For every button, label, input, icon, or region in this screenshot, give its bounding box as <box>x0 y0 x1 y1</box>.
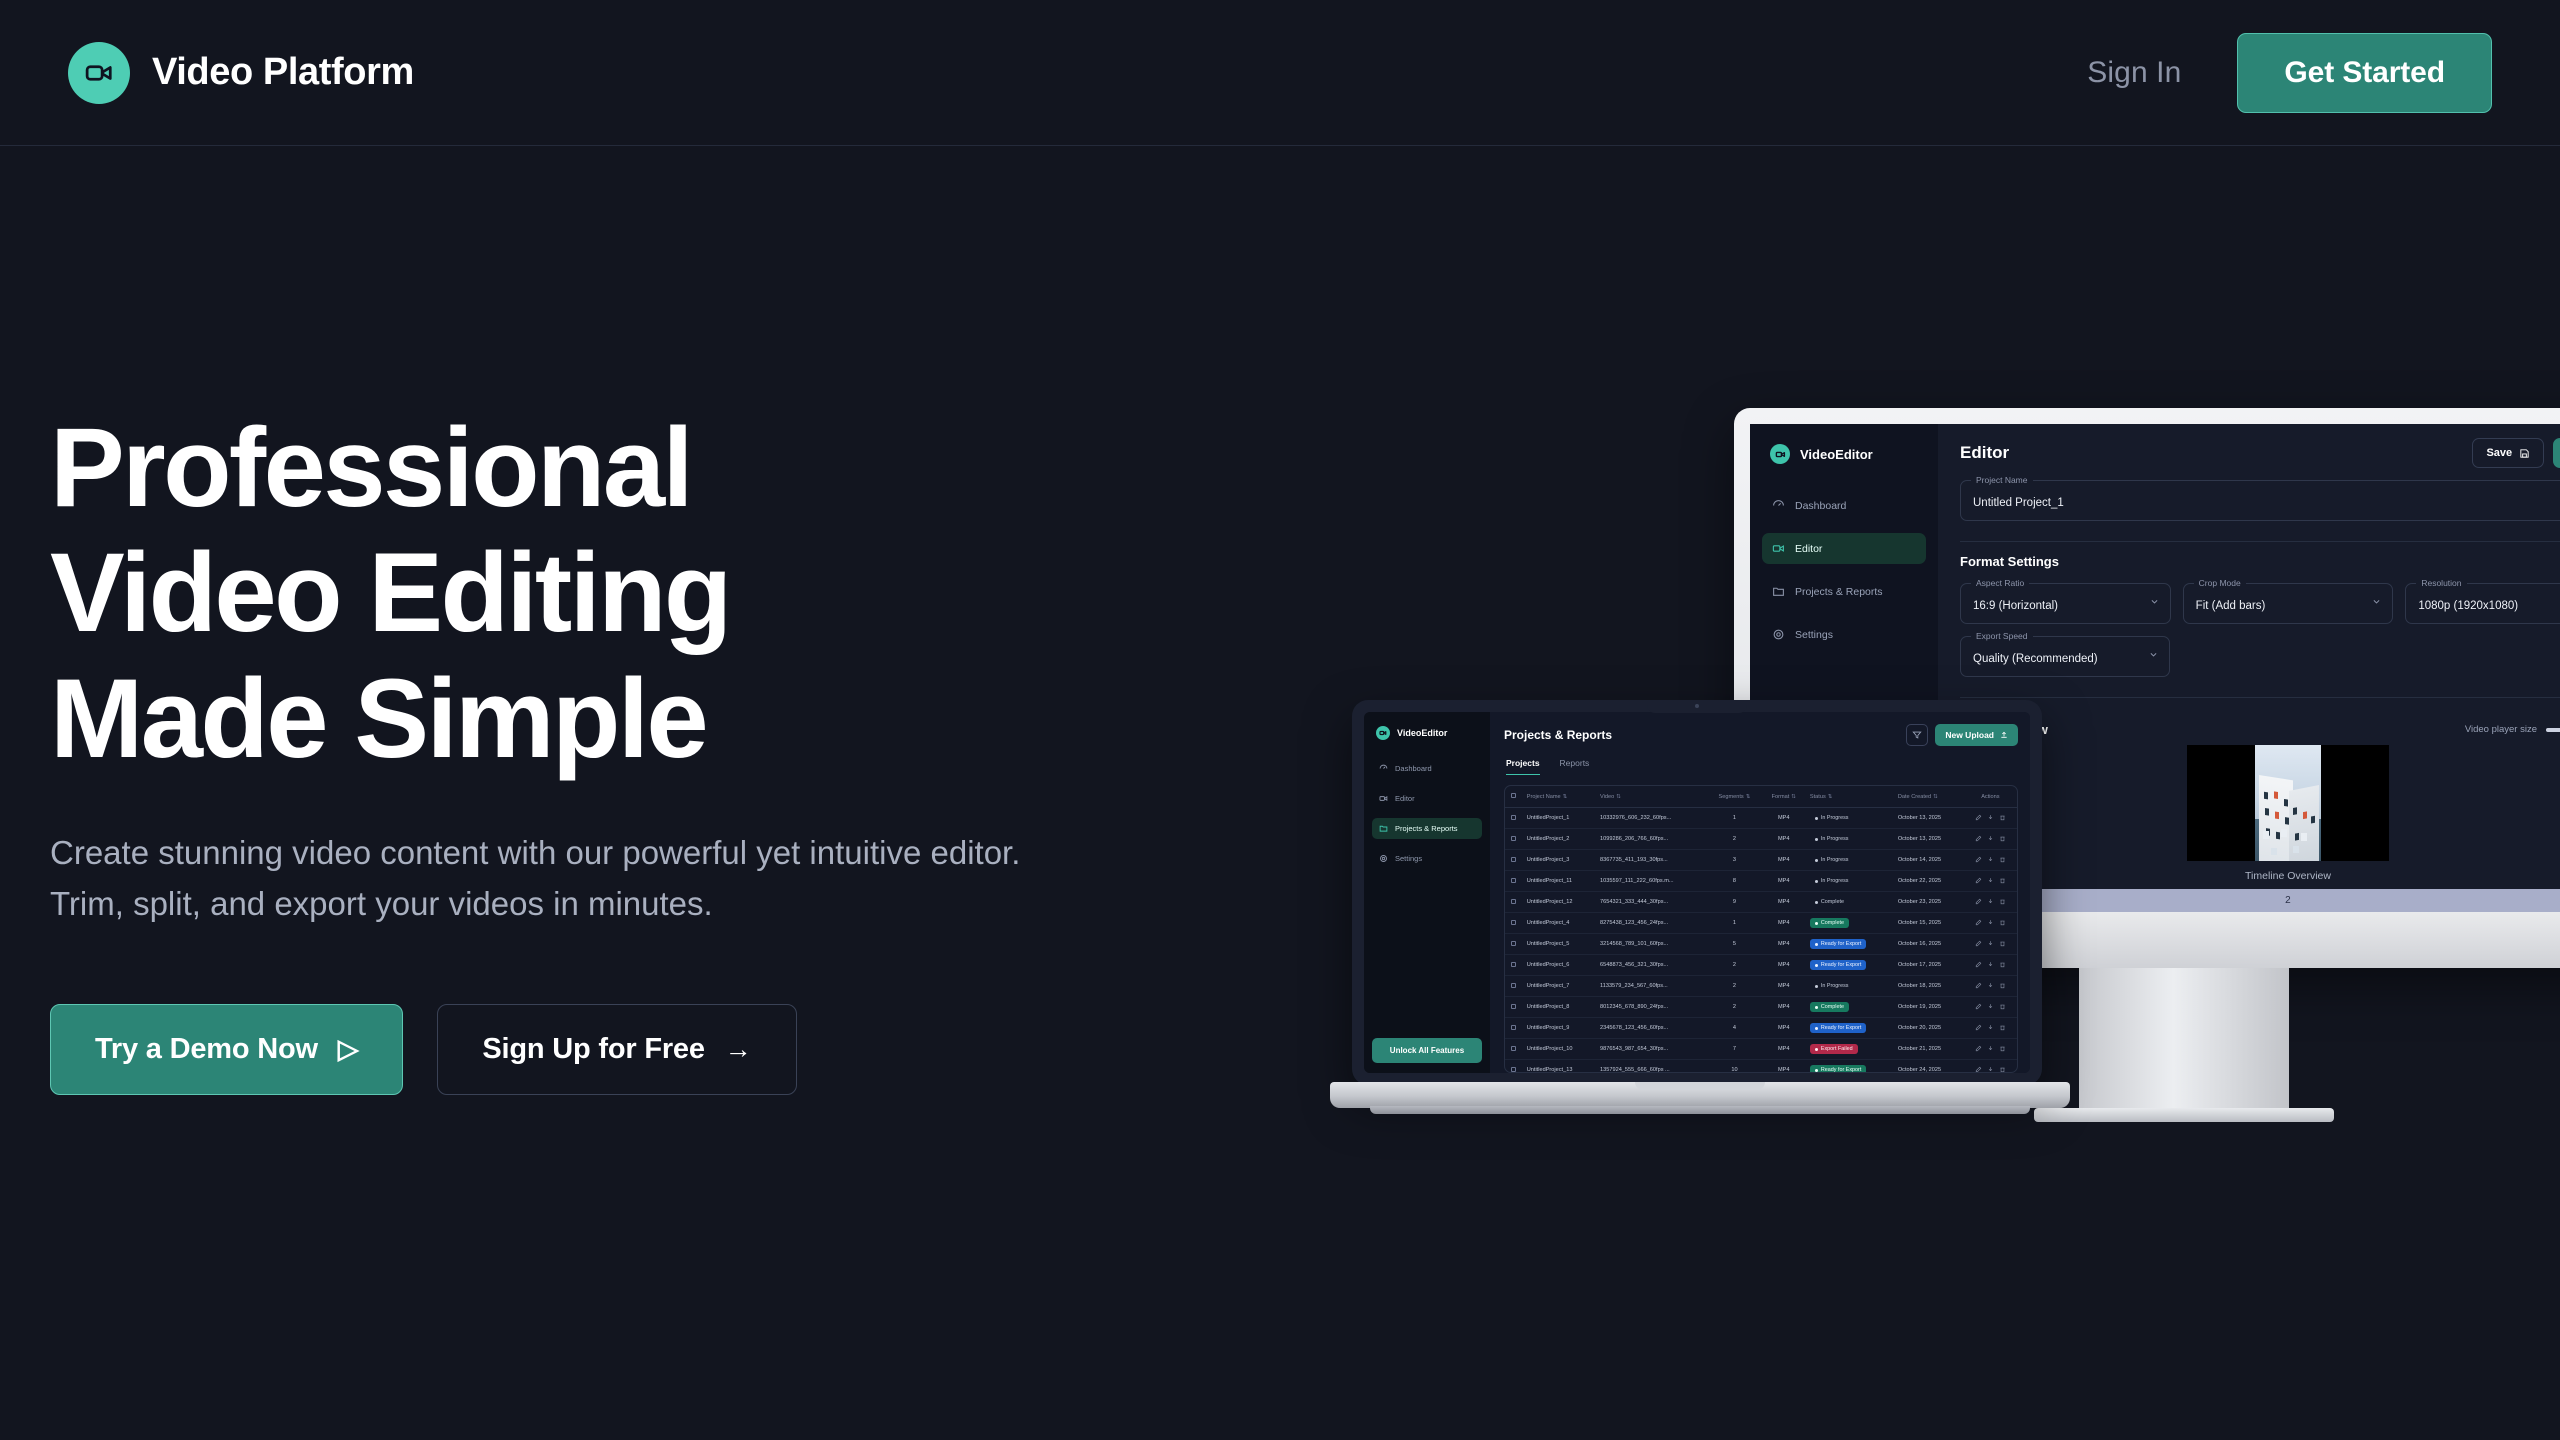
resolution-value: 1080p (1920x1080) <box>2418 600 2518 612</box>
delete-icon <box>1999 814 2006 821</box>
table-row[interactable]: UntitledProject_71133579_234_567_60fps..… <box>1505 976 2017 997</box>
row-checkbox[interactable] <box>1505 913 1523 934</box>
cell-segments: 2 <box>1707 997 1761 1018</box>
cell-date-created: October 13, 2025 <box>1894 808 1964 829</box>
sidebar-item-editor[interactable]: Editor <box>1762 533 1926 564</box>
cell-actions[interactable] <box>1964 1060 2017 1074</box>
gauge-icon <box>1772 499 1785 512</box>
chevron-down-icon <box>2372 597 2381 606</box>
select-all-checkbox[interactable] <box>1505 786 1523 808</box>
cell-video: 7654321_333_444_30fps... <box>1596 892 1707 913</box>
cell-video: 1099286_206_766_60fps... <box>1596 829 1707 850</box>
cell-format: MP4 <box>1762 955 1806 976</box>
cell-format: MP4 <box>1762 1039 1806 1060</box>
new-upload-button[interactable]: New Upload <box>1935 724 2018 746</box>
export-speed-select[interactable]: Export Speed Quality (Recommended) <box>1960 636 2170 677</box>
sign-up-label: Sign Up for Free <box>482 1033 704 1066</box>
cell-status: Complete <box>1806 997 1894 1018</box>
delete-icon <box>1999 961 2006 968</box>
edit-icon <box>1975 856 1982 863</box>
download-icon <box>1987 835 1994 842</box>
new-upload-label: New Upload <box>1945 730 1994 740</box>
tab-projects[interactable]: Projects <box>1506 758 1540 775</box>
delete-icon <box>1999 856 2006 863</box>
delete-icon <box>1999 1045 2006 1052</box>
column-project-name[interactable]: Project Name⇅ <box>1523 786 1596 808</box>
cell-project-name: UntitledProject_1 <box>1523 808 1596 829</box>
table-row[interactable]: UntitledProject_88012345_678_890_24fps..… <box>1505 997 2017 1018</box>
row-checkbox[interactable] <box>1505 871 1523 892</box>
crop-mode-select[interactable]: Crop Mode Fit (Add bars) <box>2183 583 2394 624</box>
aspect-ratio-select[interactable]: Aspect Ratio 16:9 (Horizontal) <box>1960 583 2171 624</box>
cell-status: Export Failed <box>1806 1039 1894 1060</box>
cell-date-created: October 14, 2025 <box>1894 850 1964 871</box>
cell-video: 1035597_111_222_60fps.m... <box>1596 871 1707 892</box>
table-row[interactable]: UntitledProject_127654321_333_444_30fps.… <box>1505 892 2017 913</box>
delete-icon <box>1999 1066 2006 1073</box>
crop-mode-value: Fit (Add bars) <box>2196 600 2266 612</box>
format-settings-title: Format Settings <box>1960 554 2560 569</box>
cell-project-name: UntitledProject_3 <box>1523 850 1596 871</box>
cell-actions[interactable] <box>1964 1018 2017 1039</box>
cell-status: Ready for Export <box>1806 1018 1894 1039</box>
laptop-base <box>1330 1082 2070 1108</box>
cell-actions[interactable] <box>1964 913 2017 934</box>
headline-line-3: Made Simple <box>50 656 1100 781</box>
divider <box>1960 541 2560 542</box>
row-checkbox[interactable] <box>1505 1018 1523 1039</box>
video-camera-icon <box>1770 444 1790 464</box>
table-row[interactable]: UntitledProject_109876543_987_654_30fps.… <box>1505 1039 2017 1060</box>
column-status[interactable]: Status⇅ <box>1806 786 1894 808</box>
row-checkbox[interactable] <box>1505 997 1523 1018</box>
get-started-button[interactable]: Get Started <box>2237 33 2492 113</box>
cell-actions[interactable] <box>1964 850 2017 871</box>
save-button[interactable]: Save <box>2472 438 2544 468</box>
cell-segments: 2 <box>1707 829 1761 850</box>
laptop-lid: VideoEditor Dashboard Edit <box>1352 700 2042 1085</box>
cell-project-name: UntitledProject_7 <box>1523 976 1596 997</box>
cell-format: MP4 <box>1762 829 1806 850</box>
cell-format: MP4 <box>1762 892 1806 913</box>
status-badge: In Progress <box>1810 876 1854 886</box>
cell-segments: 10 <box>1707 1060 1761 1074</box>
player-size-slider[interactable] <box>2546 728 2560 732</box>
status-badge: Ready for Export <box>1810 960 1866 970</box>
sidebar-item-projects-reports[interactable]: Projects & Reports <box>1762 576 1926 607</box>
cell-video: 1357924_555_666_60fps ... <box>1596 1060 1707 1074</box>
row-checkbox[interactable] <box>1505 976 1523 997</box>
cell-segments: 5 <box>1707 934 1761 955</box>
table-row[interactable]: UntitledProject_53214568_789_101_60fps..… <box>1505 934 2017 955</box>
editor-brand: VideoEditor <box>1750 444 1938 490</box>
cell-segments: 1 <box>1707 913 1761 934</box>
delete-icon <box>1999 898 2006 905</box>
try-demo-button[interactable]: Try a Demo Now ▷ <box>50 1004 403 1095</box>
download-icon <box>1987 1024 1994 1031</box>
brand-name: Video Platform <box>152 51 414 94</box>
projects-header-actions: New Upload <box>1906 724 2018 746</box>
download-icon <box>1987 1066 1994 1073</box>
cell-segments: 2 <box>1707 955 1761 976</box>
sidebar-item-label: Projects & Reports <box>1395 824 1458 833</box>
cell-project-name: UntitledProject_13 <box>1523 1060 1596 1074</box>
format-settings-grid: Aspect Ratio 16:9 (Horizontal) Crop Mode <box>1960 583 2560 630</box>
cell-video: 1133579_234_567_60fps... <box>1596 976 1707 997</box>
export-speed-row: Export Speed Quality (Recommended) <box>1960 636 2560 683</box>
editor-top-actions: Save Export <box>2472 438 2560 468</box>
cell-status: In Progress <box>1806 976 1894 997</box>
table-row[interactable]: UntitledProject_48275438_123_456_24fps..… <box>1505 913 2017 934</box>
page-title: Professional Video Editing Made Simple <box>50 405 1100 781</box>
monitor-foot <box>2034 1108 2334 1122</box>
table-row[interactable]: UntitledProject_92345678_123_456_60fps..… <box>1505 1018 2017 1039</box>
cell-actions[interactable] <box>1964 892 2017 913</box>
cell-date-created: October 22, 2025 <box>1894 871 1964 892</box>
video-frame-image <box>2255 745 2321 861</box>
delete-icon <box>1999 877 2006 884</box>
aspect-ratio-label: Aspect Ratio <box>1971 578 2029 588</box>
column-video[interactable]: Video⇅ <box>1596 786 1707 808</box>
column-actions: Actions <box>1964 786 2017 808</box>
status-badge: Complete <box>1810 1002 1849 1012</box>
sidebar-item-label: Projects & Reports <box>1795 586 1883 598</box>
cell-project-name: UntitledProject_5 <box>1523 934 1596 955</box>
table-row[interactable]: UntitledProject_38367735_411_193_30fps..… <box>1505 850 2017 871</box>
delete-icon <box>1999 1003 2006 1010</box>
cell-actions[interactable] <box>1964 829 2017 850</box>
cell-segments: 7 <box>1707 1039 1761 1060</box>
projects-brand: VideoEditor <box>1364 726 1490 758</box>
gear-icon <box>1379 854 1388 863</box>
cell-date-created: October 13, 2025 <box>1894 829 1964 850</box>
editor-page-title: Editor <box>1960 443 2009 463</box>
cell-date-created: October 20, 2025 <box>1894 1018 1964 1039</box>
cell-format: MP4 <box>1762 976 1806 997</box>
delete-icon <box>1999 940 2006 947</box>
divider <box>1960 697 2560 698</box>
laptop-screen: VideoEditor Dashboard Edit <box>1364 712 2030 1073</box>
status-badge: Ready for Export <box>1810 1065 1866 1073</box>
projects-brand-name: VideoEditor <box>1397 728 1447 738</box>
status-badge: Ready for Export <box>1810 1023 1866 1033</box>
laptop-notch <box>1647 700 1747 713</box>
download-icon <box>1987 982 1994 989</box>
status-badge: Export Failed <box>1810 1044 1858 1054</box>
delete-icon <box>1999 982 2006 989</box>
play-icon: ▷ <box>338 1036 359 1063</box>
row-checkbox[interactable] <box>1505 1039 1523 1060</box>
edit-icon <box>1975 1024 1982 1031</box>
cell-actions[interactable] <box>1964 808 2017 829</box>
sidebar-item-dashboard[interactable]: Dashboard <box>1372 758 1482 779</box>
laptop-foot <box>1370 1106 2030 1114</box>
row-checkbox[interactable] <box>1505 955 1523 976</box>
download-icon <box>1987 940 1994 947</box>
cell-video: 3214568_789_101_60fps... <box>1596 934 1707 955</box>
cell-video: 8275438_123_456_24fps... <box>1596 913 1707 934</box>
sidebar-item-label: Editor <box>1395 794 1415 803</box>
cell-project-name: UntitledProject_11 <box>1523 871 1596 892</box>
arrow-right-icon: → <box>725 1036 752 1063</box>
edit-icon <box>1975 877 1982 884</box>
projects-header: Projects & Reports New Upload <box>1504 724 2018 746</box>
status-badge: In Progress <box>1810 855 1854 865</box>
cell-actions[interactable] <box>1964 997 2017 1018</box>
cell-video: 6548873_456_321_30fps... <box>1596 955 1707 976</box>
cell-format: MP4 <box>1762 997 1806 1018</box>
cell-video: 8367735_411_193_30fps... <box>1596 850 1707 871</box>
edit-icon <box>1975 940 1982 947</box>
projects-table: Project Name⇅ Video⇅ Segments⇅ Format⇅ S… <box>1504 785 2018 1073</box>
product-mockup-stage: VideoEditor Dashboard <box>1330 380 2560 1200</box>
table-header-row: Project Name⇅ Video⇅ Segments⇅ Format⇅ S… <box>1505 786 2017 808</box>
edit-icon <box>1975 982 1982 989</box>
headline-line-2: Video Editing <box>50 530 1100 655</box>
cell-video: 10332976_606_232_60fps... <box>1596 808 1707 829</box>
video-camera-icon <box>68 42 130 104</box>
video-player[interactable] <box>2187 745 2389 861</box>
download-icon <box>1987 1003 1994 1010</box>
cell-project-name: UntitledProject_10 <box>1523 1039 1596 1060</box>
try-demo-label: Try a Demo Now <box>95 1033 318 1066</box>
edit-icon <box>1975 1003 1982 1010</box>
headline-line-1: Professional <box>50 405 1100 530</box>
cell-video: 8012345_678_890_24fps... <box>1596 997 1707 1018</box>
row-checkbox[interactable] <box>1505 1060 1523 1074</box>
cell-video: 2345678_123_456_60fps... <box>1596 1018 1707 1039</box>
aspect-ratio-value: 16:9 (Horizontal) <box>1973 600 2058 612</box>
projects-main: Projects & Reports New Upload <box>1490 712 2030 1073</box>
cell-actions[interactable] <box>1964 976 2017 997</box>
cell-format: MP4 <box>1762 934 1806 955</box>
download-icon <box>1987 961 1994 968</box>
delete-icon <box>1999 919 2006 926</box>
project-name-field[interactable]: Project Name Untitled Project_1 <box>1960 480 2560 521</box>
status-badge: In Progress <box>1810 981 1854 991</box>
cell-date-created: October 23, 2025 <box>1894 892 1964 913</box>
cell-status: Ready for Export <box>1806 934 1894 955</box>
edit-icon <box>1975 835 1982 842</box>
delete-icon <box>1999 835 2006 842</box>
cell-date-created: October 17, 2025 <box>1894 955 1964 976</box>
projects-page-title: Projects & Reports <box>1504 728 1612 742</box>
export-speed-value: Quality (Recommended) <box>1973 653 2098 665</box>
crop-mode-label: Crop Mode <box>2194 578 2246 588</box>
hero-subtitle: Create stunning video content with our p… <box>50 827 1100 929</box>
cell-format: MP4 <box>1762 850 1806 871</box>
table-row[interactable]: UntitledProject_66548873_456_321_30fps..… <box>1505 955 2017 976</box>
cell-format: MP4 <box>1762 1060 1806 1074</box>
sidebar-item-label: Editor <box>1795 543 1822 555</box>
project-name-label: Project Name <box>1971 475 2033 485</box>
resolution-select[interactable]: Resolution 1080p (1920x1080) <box>2405 583 2560 624</box>
sidebar-item-dashboard[interactable]: Dashboard <box>1762 490 1926 521</box>
status-badge: Complete <box>1810 918 1849 928</box>
cell-segments: 8 <box>1707 871 1761 892</box>
hero-section: Professional Video Editing Made Simple C… <box>50 405 1100 1095</box>
cell-status: Complete <box>1806 913 1894 934</box>
video-camera-icon <box>1376 726 1390 740</box>
cell-status: Complete <box>1806 892 1894 913</box>
cell-project-name: UntitledProject_2 <box>1523 829 1596 850</box>
cell-actions[interactable] <box>1964 955 2017 976</box>
editor-topbar: Editor Save Export <box>1938 424 2560 480</box>
cell-segments: 1 <box>1707 808 1761 829</box>
edit-icon <box>1975 1066 1982 1073</box>
cell-date-created: October 19, 2025 <box>1894 997 1964 1018</box>
download-icon <box>1987 814 1994 821</box>
edit-icon <box>1975 961 1982 968</box>
player-size-control[interactable]: Video player size <box>2465 724 2560 735</box>
cell-project-name: UntitledProject_8 <box>1523 997 1596 1018</box>
edit-icon <box>1975 814 1982 821</box>
monitor-stand <box>2079 968 2289 1116</box>
folder-icon <box>1772 585 1785 598</box>
cell-format: MP4 <box>1762 913 1806 934</box>
status-badge: Complete <box>1810 897 1849 907</box>
download-icon <box>1987 919 1994 926</box>
projects-sidebar: VideoEditor Dashboard Edit <box>1364 712 1490 1073</box>
column-date-created[interactable]: Date Created⇅ <box>1894 786 1964 808</box>
save-label: Save <box>2486 447 2512 459</box>
gear-icon <box>1772 628 1785 641</box>
download-icon <box>1987 1045 1994 1052</box>
cell-status: Ready for Export <box>1806 1060 1894 1074</box>
cta-row: Try a Demo Now ▷ Sign Up for Free → <box>50 1004 1100 1095</box>
folder-icon <box>1379 824 1388 833</box>
player-size-label: Video player size <box>2465 724 2537 735</box>
sidebar-item-label: Dashboard <box>1395 764 1432 773</box>
cell-status: Ready for Export <box>1806 955 1894 976</box>
cell-status: In Progress <box>1806 850 1894 871</box>
cell-format: MP4 <box>1762 871 1806 892</box>
sidebar-item-label: Dashboard <box>1795 500 1846 512</box>
table-row[interactable]: UntitledProject_131357924_555_666_60fps … <box>1505 1060 2017 1074</box>
status-badge: In Progress <box>1810 834 1854 844</box>
download-icon <box>1987 898 1994 905</box>
cell-format: MP4 <box>1762 808 1806 829</box>
editor-brand-name: VideoEditor <box>1800 447 1873 462</box>
sign-in-link[interactable]: Sign In <box>2087 56 2181 90</box>
download-icon <box>1987 856 1994 863</box>
cell-actions[interactable] <box>1964 871 2017 892</box>
gauge-icon <box>1379 764 1388 773</box>
cell-project-name: UntitledProject_12 <box>1523 892 1596 913</box>
cell-project-name: UntitledProject_9 <box>1523 1018 1596 1039</box>
video-camera-icon <box>1772 542 1785 555</box>
resolution-label: Resolution <box>2416 578 2466 588</box>
cell-date-created: October 21, 2025 <box>1894 1039 1964 1060</box>
table-row[interactable]: UntitledProject_111035597_111_222_60fps.… <box>1505 871 2017 892</box>
cell-project-name: UntitledProject_6 <box>1523 955 1596 976</box>
brand-logo[interactable]: Video Platform <box>68 42 414 104</box>
floppy-disk-icon <box>2519 448 2530 459</box>
row-checkbox[interactable] <box>1505 850 1523 871</box>
sidebar-item-projects-reports[interactable]: Projects & Reports <box>1372 818 1482 839</box>
chevron-down-icon <box>2150 597 2159 606</box>
status-badge: Ready for Export <box>1810 939 1866 949</box>
cell-segments: 9 <box>1707 892 1761 913</box>
laptop-mockup: VideoEditor Dashboard Edit <box>1330 700 2070 1130</box>
sign-up-button[interactable]: Sign Up for Free → <box>437 1004 796 1095</box>
sidebar-item-editor[interactable]: Editor <box>1372 788 1482 809</box>
cell-date-created: October 18, 2025 <box>1894 976 1964 997</box>
row-checkbox[interactable] <box>1505 934 1523 955</box>
cell-segments: 4 <box>1707 1018 1761 1039</box>
column-format[interactable]: Format⇅ <box>1762 786 1806 808</box>
cell-project-name: UntitledProject_4 <box>1523 913 1596 934</box>
row-checkbox[interactable] <box>1505 892 1523 913</box>
column-segments[interactable]: Segments⇅ <box>1707 786 1761 808</box>
cell-segments: 3 <box>1707 850 1761 871</box>
landing-page: Video Platform Sign In Get Started Profe… <box>0 0 2560 1440</box>
cell-date-created: October 24, 2025 <box>1894 1060 1964 1074</box>
header-actions: Sign In Get Started <box>2087 33 2492 113</box>
cell-date-created: October 15, 2025 <box>1894 913 1964 934</box>
tab-reports[interactable]: Reports <box>1560 758 1590 775</box>
table-row[interactable]: UntitledProject_110332976_606_232_60fps.… <box>1505 808 2017 829</box>
cell-status: In Progress <box>1806 808 1894 829</box>
sidebar-item-settings[interactable]: Settings <box>1372 848 1482 869</box>
export-button[interactable]: Export <box>2553 438 2560 468</box>
edit-icon <box>1975 898 1982 905</box>
cell-status: In Progress <box>1806 829 1894 850</box>
table-row[interactable]: UntitledProject_21099286_206_766_60fps..… <box>1505 829 2017 850</box>
download-icon <box>1987 877 1994 884</box>
project-name-value: Untitled Project_1 <box>1973 497 2064 509</box>
cell-actions[interactable] <box>1964 934 2017 955</box>
cell-format: MP4 <box>1762 1018 1806 1039</box>
delete-icon <box>1999 1024 2006 1031</box>
cell-video: 9876543_987_654_30fps... <box>1596 1039 1707 1060</box>
edit-icon <box>1975 1045 1982 1052</box>
sidebar-item-label: Settings <box>1395 854 1422 863</box>
unlock-all-features-button[interactable]: Unlock All Features <box>1372 1038 1482 1063</box>
row-checkbox[interactable] <box>1505 829 1523 850</box>
video-camera-icon <box>1379 794 1388 803</box>
cell-actions[interactable] <box>1964 1039 2017 1060</box>
projects-tabs: Projects Reports <box>1506 758 2018 775</box>
edit-icon <box>1975 919 1982 926</box>
cell-segments: 2 <box>1707 976 1761 997</box>
status-badge: In Progress <box>1810 813 1854 823</box>
chevron-down-icon <box>2149 650 2158 659</box>
sidebar-item-label: Settings <box>1795 629 1833 641</box>
filter-icon[interactable] <box>1906 724 1928 746</box>
site-header: Video Platform Sign In Get Started <box>0 0 2560 146</box>
row-checkbox[interactable] <box>1505 808 1523 829</box>
cell-status: In Progress <box>1806 871 1894 892</box>
upload-icon <box>2000 731 2008 739</box>
export-speed-label: Export Speed <box>1971 631 2033 641</box>
cell-date-created: October 16, 2025 <box>1894 934 1964 955</box>
sidebar-item-settings[interactable]: Settings <box>1762 619 1926 650</box>
